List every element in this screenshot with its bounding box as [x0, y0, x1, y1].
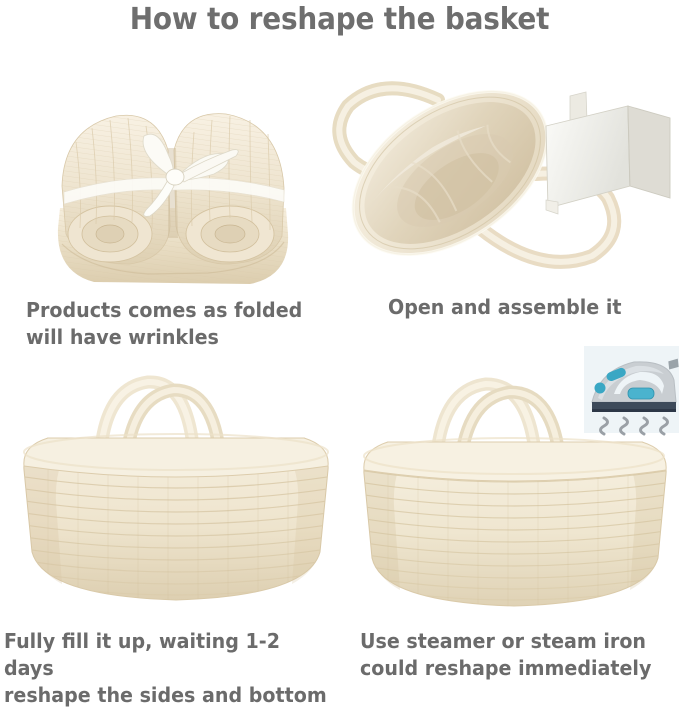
steam-iron-icon: [584, 346, 679, 433]
step-3-caption: Fully fill it up, waiting 1-2 days resha…: [4, 628, 330, 709]
basket-body: [18, 434, 334, 604]
basket-body: [358, 438, 672, 608]
step-1-caption: Products comes as folded will have wrink…: [26, 297, 305, 351]
step-2-image: [330, 58, 670, 290]
step-3-image: [8, 352, 344, 624]
step-1-image: [18, 58, 328, 290]
step-2-caption: Open and assemble it: [388, 294, 630, 321]
step-4-caption: Use steamer or steam iron could reshape …: [360, 628, 658, 682]
infographic-page: How to reshape the basket: [0, 0, 679, 687]
page-title: How to reshape the basket: [24, 2, 655, 37]
